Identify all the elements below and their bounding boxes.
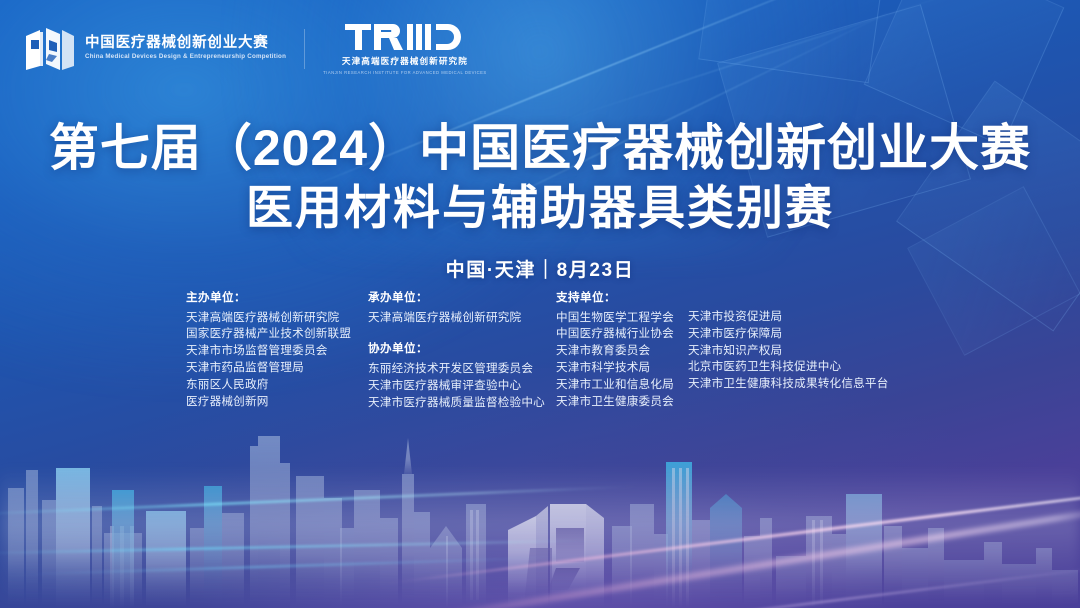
host-item: 天津市市场监督管理委员会 (186, 343, 368, 360)
supporter-item: 天津市知识产权局 (688, 343, 898, 360)
competition-logo-en: China Medical Devices Design & Entrepren… (85, 54, 286, 61)
competition-logo-text: 中国医疗器械创新创业大赛 China Medical Devices Desig… (85, 36, 286, 61)
organizer-item: 天津高端医疗器械创新研究院 (368, 310, 556, 327)
host-item: 医疗器械创新网 (186, 394, 368, 411)
organizer-list: 主办单位： 天津高端医疗器械创新研究院 国家医疗器械产业技术创新联盟 天津市市场… (186, 292, 898, 411)
institute-logo-cn: 天津高端医疗器械创新研究院 (342, 55, 468, 67)
host-column: 主办单位： 天津高端医疗器械创新研究院 国家医疗器械产业技术创新联盟 天津市市场… (186, 292, 368, 410)
organizer-label: 承办单位： (368, 292, 556, 304)
organizer-column: 承办单位： 天津高端医疗器械创新研究院 协办单位： 东丽经济技术开发区管理委员会… (368, 292, 556, 411)
open-door-logo-icon (24, 26, 76, 72)
supporter-item: 中国医疗器械行业协会 (556, 326, 688, 343)
supporter-column: 支持单位： 中国生物医学工程学会 中国医疗器械行业协会 天津市教育委员会 天津市… (556, 292, 898, 410)
host-item: 天津高端医疗器械创新研究院 (186, 310, 368, 327)
supporter-subcolumn-b: 天津市投资促进局 天津市医疗保障局 天津市知识产权局 北京市医药卫生科技促进中心… (688, 292, 898, 410)
header-logos: 中国医疗器械创新创业大赛 China Medical Devices Desig… (24, 22, 487, 75)
triid-wordmark-icon (345, 22, 465, 52)
supporter-item: 天津市科学技术局 (556, 360, 688, 377)
institute-logo-en: TIANJIN RESEARCH INSTITUTE FOR ADVANCED … (323, 70, 487, 75)
supporter-label: 支持单位： (556, 292, 688, 304)
supporter-item: 天津市卫生健康科技成果转化信息平台 (688, 376, 898, 393)
polygon-facet (698, 0, 889, 83)
supporter-item: 天津市医疗保障局 (688, 326, 898, 343)
supporter-item: 天津市教育委员会 (556, 343, 688, 360)
supporter-subcolumn-a: 支持单位： 中国生物医学工程学会 中国医疗器械行业协会 天津市教育委员会 天津市… (556, 292, 688, 410)
competition-logo: 中国医疗器械创新创业大赛 China Medical Devices Desig… (24, 26, 286, 72)
page-title: 第七届（2024）中国医疗器械创新创业大赛 医用材料与辅助器具类别赛 (0, 118, 1080, 236)
supporter-item: 天津市投资促进局 (688, 309, 898, 326)
co-organizer-item: 天津市医疗器械质量监督检验中心 (368, 395, 556, 412)
co-organizer-item: 东丽经济技术开发区管理委员会 (368, 361, 556, 378)
competition-logo-cn: 中国医疗器械创新创业大赛 (85, 36, 286, 52)
host-item: 东丽区人民政府 (186, 377, 368, 394)
ground-haze (0, 468, 1080, 608)
logo-divider (304, 29, 305, 69)
host-label: 主办单位： (186, 292, 368, 304)
host-item: 天津市药品监督管理局 (186, 360, 368, 377)
institute-logo: 天津高端医疗器械创新研究院 TIANJIN RESEARCH INSTITUTE… (323, 22, 487, 75)
supporter-item: 北京市医药卫生科技促进中心 (688, 359, 898, 376)
host-item: 国家医疗器械产业技术创新联盟 (186, 326, 368, 343)
supporter-item: 天津市卫生健康委员会 (556, 394, 688, 411)
co-organizer-label: 协办单位： (368, 343, 556, 355)
co-organizer-item: 天津市医疗器械审评查验中心 (368, 378, 556, 395)
title-line-2: 医用材料与辅助器具类别赛 (0, 179, 1080, 236)
supporter-item: 天津市工业和信息化局 (556, 377, 688, 394)
event-poster: 中国医疗器械创新创业大赛 China Medical Devices Desig… (0, 0, 1080, 608)
event-location-date: 中国·天津｜8月23日 (0, 255, 1080, 282)
light-ray-icon (560, 0, 960, 122)
title-line-1: 第七届（2024）中国医疗器械创新创业大赛 (0, 118, 1080, 179)
column-spacer (368, 326, 556, 343)
supporter-item: 中国生物医学工程学会 (556, 310, 688, 327)
